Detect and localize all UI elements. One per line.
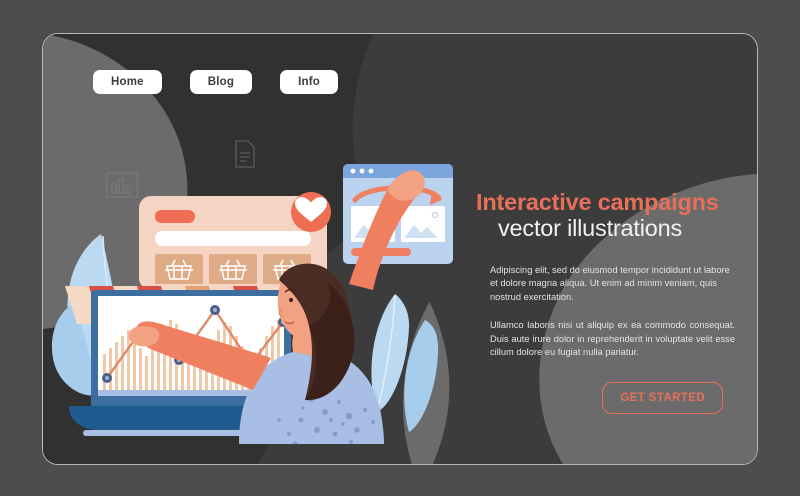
- page-title-line1: Interactive campaigns: [476, 189, 731, 215]
- body-paragraph-2: Ullamco laboris nisi ut aliquip ex ea co…: [490, 319, 735, 360]
- window-dot: [369, 169, 374, 174]
- screenshot-root: Home Blog Info Interactive campaigns vec…: [0, 0, 800, 496]
- get-started-button[interactable]: GET STARTED: [602, 382, 723, 414]
- pointing-hand-icon: [129, 326, 160, 346]
- heart-badge-icon: [291, 192, 331, 232]
- page-title-line2: vector illustrations: [498, 215, 731, 241]
- eye: [289, 298, 293, 302]
- hero-card: Home Blog Info Interactive campaigns vec…: [42, 33, 758, 465]
- leaf-cluster-right: [371, 294, 438, 432]
- nav-item-home[interactable]: Home: [93, 70, 162, 94]
- hero-illustration: [43, 114, 473, 444]
- main-nav: Home Blog Info: [93, 70, 338, 94]
- cta-container: GET STARTED: [476, 382, 731, 414]
- window-dot: [360, 169, 365, 174]
- body-paragraph-1: Adipiscing elit, sed do eiusmod tempor i…: [490, 264, 735, 305]
- hero-copy: Interactive campaigns vector illustratio…: [476, 189, 731, 414]
- image-placeholder: [401, 206, 445, 242]
- nav-item-blog[interactable]: Blog: [190, 70, 252, 94]
- window-dot: [351, 169, 356, 174]
- nav-item-info[interactable]: Info: [280, 70, 338, 94]
